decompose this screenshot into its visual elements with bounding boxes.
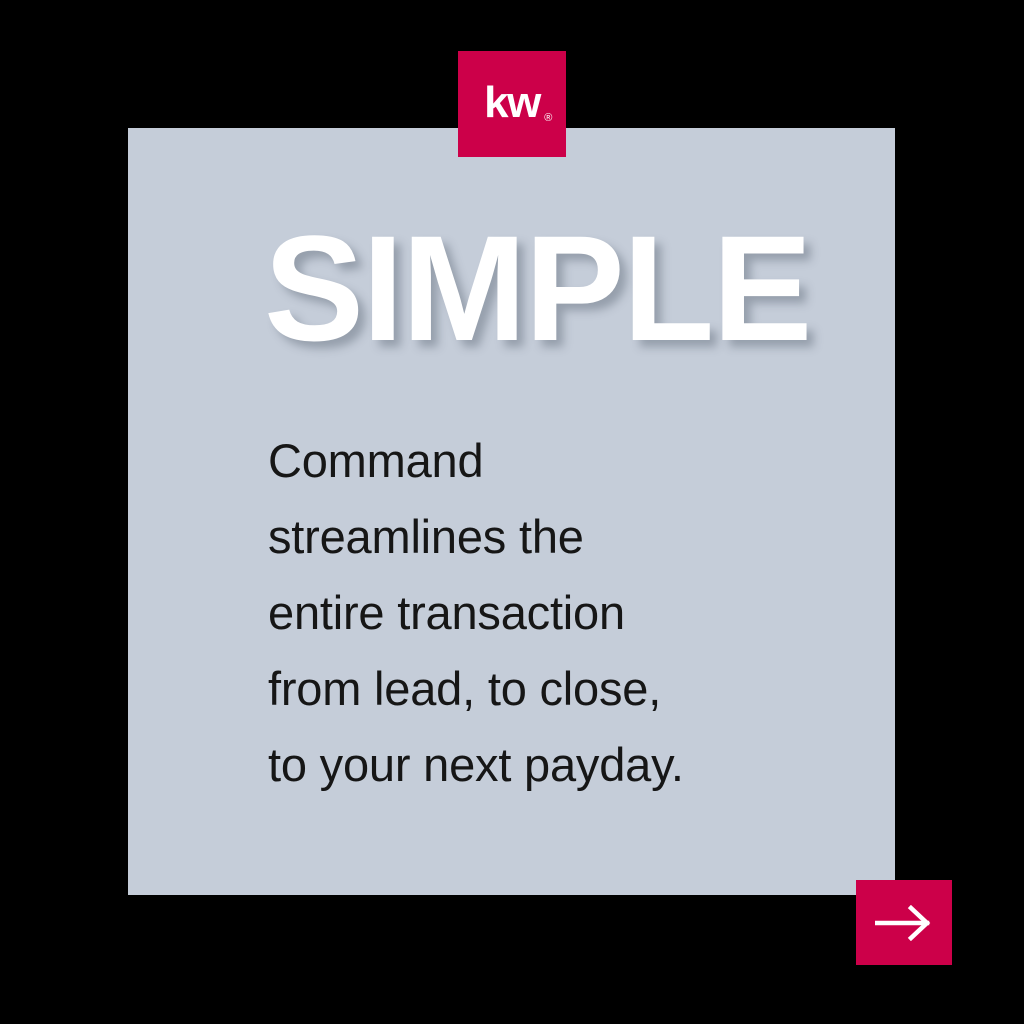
page-title: SIMPLE (264, 213, 824, 363)
body-copy-line: Command (268, 423, 808, 499)
body-copy-line: from lead, to close, (268, 651, 808, 727)
kw-wordmark-text: kw (484, 78, 540, 127)
registered-trademark-icon: ® (544, 113, 551, 124)
body-copy-line: entire transaction (268, 575, 808, 651)
body-copy-line: streamlines the (268, 499, 808, 575)
slide-canvas: kw® SIMPLE Command streamlines the entir… (0, 0, 1024, 1024)
body-copy-line: to your next payday. (268, 727, 808, 803)
arrow-right-icon (875, 905, 933, 941)
kw-logo-badge: kw® (458, 51, 566, 157)
next-slide-button[interactable] (856, 880, 952, 965)
kw-wordmark: kw® (484, 81, 540, 125)
body-copy: Command streamlines the entire transacti… (268, 423, 808, 803)
